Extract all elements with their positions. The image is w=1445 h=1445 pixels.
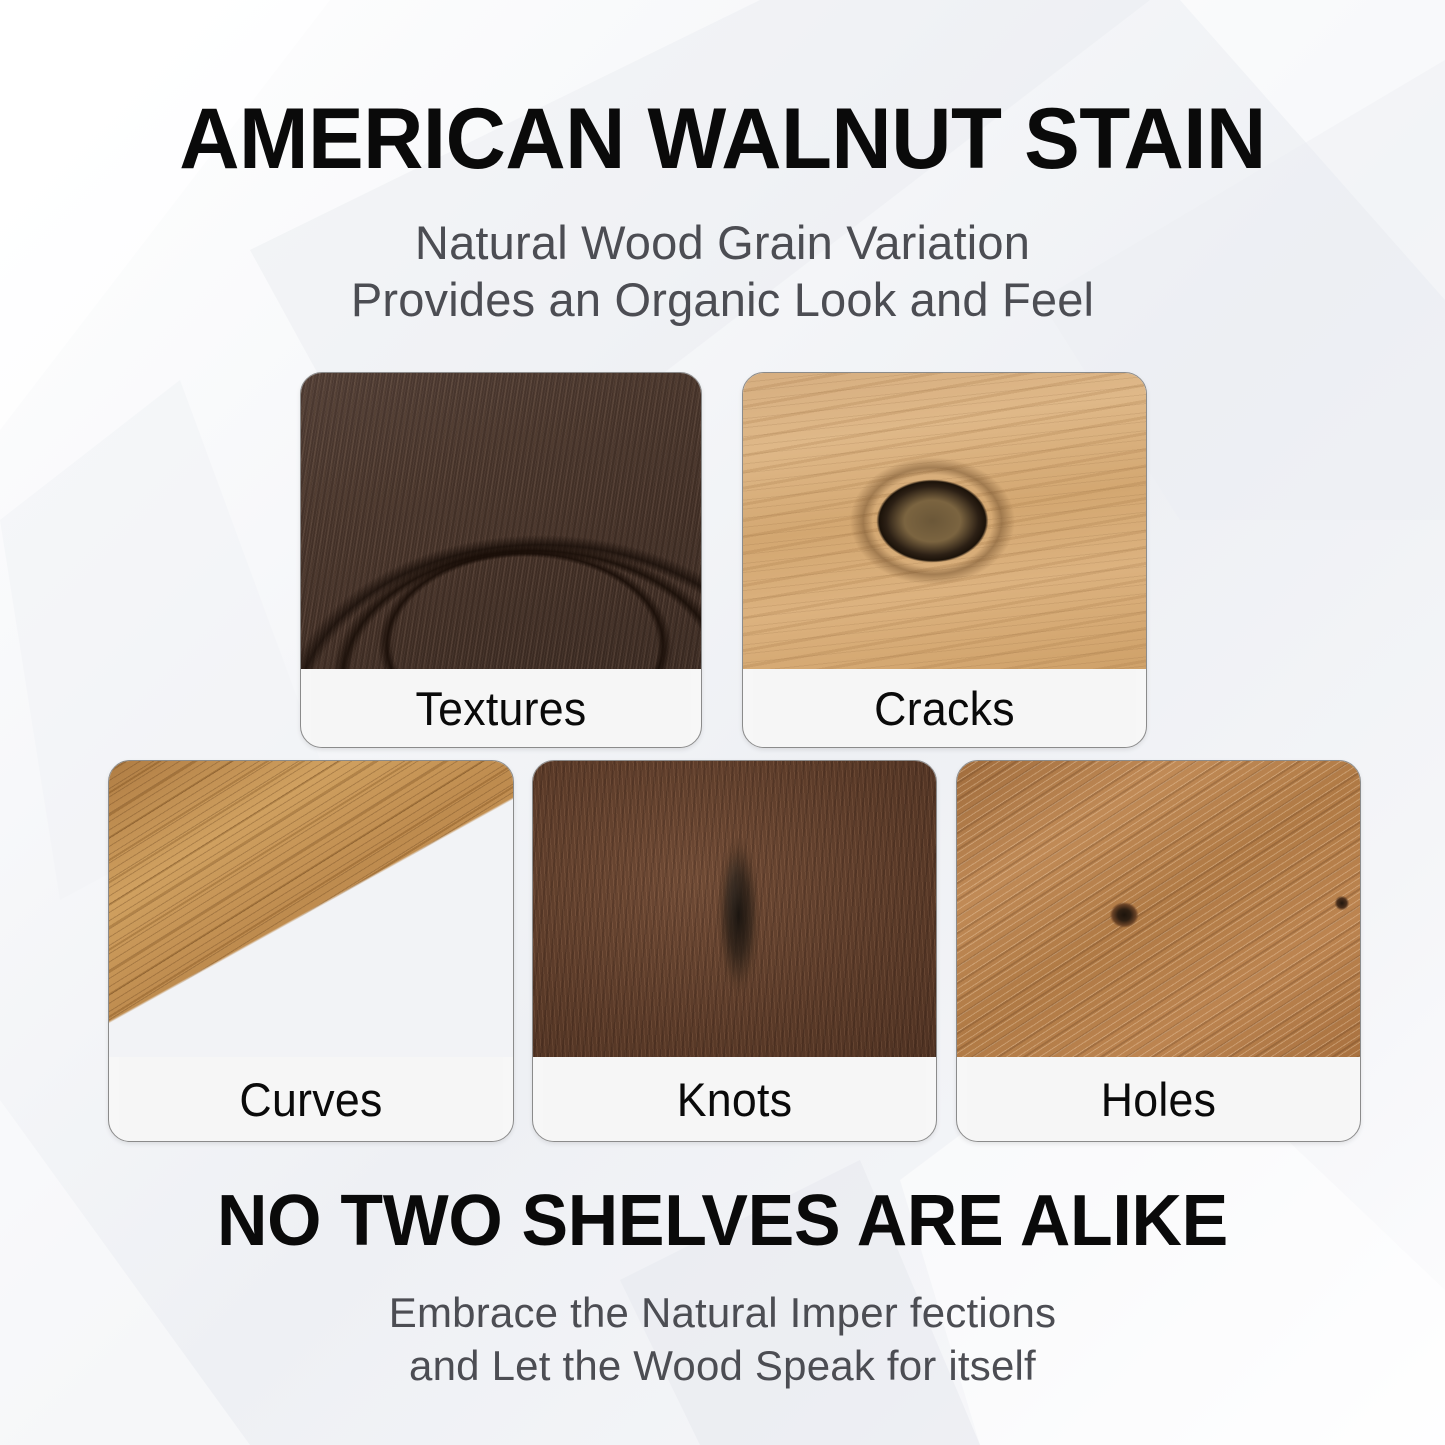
sample-photo-textures <box>301 373 701 669</box>
wood-grain-texture-light-tan-knot <box>743 373 1146 669</box>
wood-grain-texture-brown-holes <box>957 761 1360 1057</box>
sample-label-knots: Knots <box>543 1057 926 1141</box>
sample-label-curves: Curves <box>119 1057 503 1141</box>
wood-grain-texture-dark-walnut <box>301 373 701 669</box>
sample-photo-holes <box>957 761 1360 1057</box>
sample-card-knots[interactable]: Knots <box>532 760 937 1142</box>
sample-photo-knots <box>533 761 936 1057</box>
sample-card-cracks[interactable]: Cracks <box>742 372 1147 748</box>
footer-subtitle: Embrace the Natural Imper fections and L… <box>0 1287 1445 1393</box>
sample-label-textures: Textures <box>311 669 691 747</box>
board-edge-highlight <box>109 761 513 1057</box>
sample-card-textures[interactable]: Textures <box>300 372 702 748</box>
footer-headline: NO TWO SHELVES ARE ALIKE <box>22 1185 1424 1257</box>
footer-subtitle-line-2: and Let the Wood Speak for itself <box>0 1340 1445 1393</box>
wood-grain-texture-dark-knot <box>533 761 936 1057</box>
sample-photo-cracks <box>743 373 1146 669</box>
sample-card-curves[interactable]: Curves <box>108 760 514 1142</box>
sample-card-holes[interactable]: Holes <box>956 760 1361 1142</box>
sample-label-cracks: Cracks <box>753 669 1136 747</box>
sample-photo-curves <box>109 761 513 1057</box>
sample-label-holes: Holes <box>967 1057 1350 1141</box>
footer-block: NO TWO SHELVES ARE ALIKE Embrace the Nat… <box>0 1185 1445 1393</box>
footer-subtitle-line-1: Embrace the Natural Imper fections <box>0 1287 1445 1340</box>
